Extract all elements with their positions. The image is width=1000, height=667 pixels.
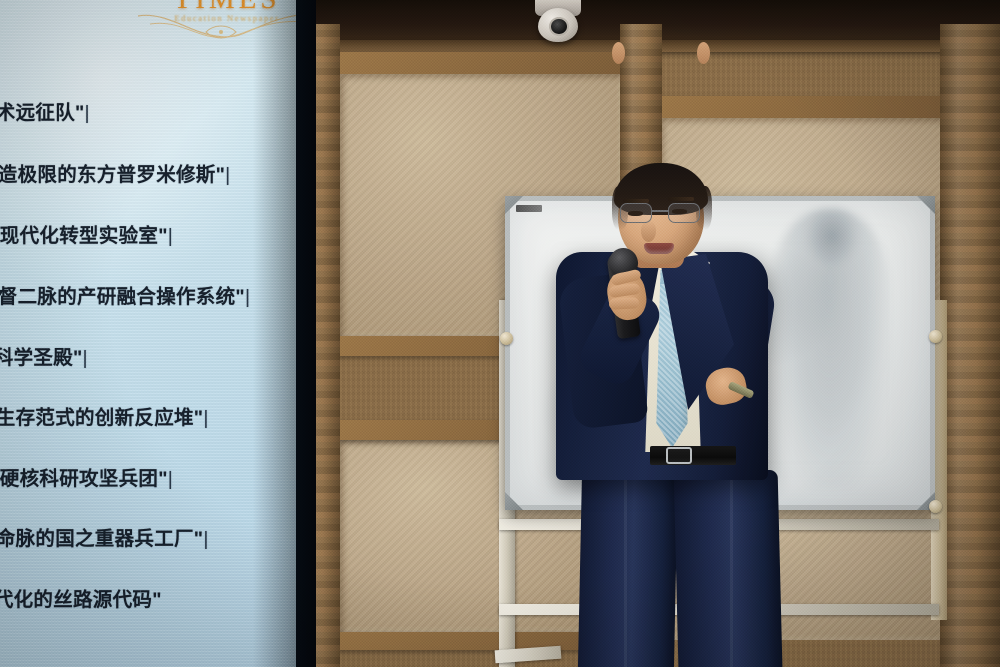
speaker-ear-left: [612, 42, 625, 64]
speaker-mouth: [644, 243, 674, 254]
speaker-leg-right: [674, 470, 783, 667]
speaker-legs: [580, 470, 780, 667]
finger: [609, 297, 640, 310]
slide-text-block: 学术远征队"| 制造极限的东方普罗米修斯"| 的现代化转型实验室"| 任督二脉的…: [0, 96, 296, 612]
whiteboard-brand-label: [516, 205, 542, 212]
belt: [650, 446, 736, 465]
whiteboard-pivot-knob-left[interactable]: [500, 332, 513, 345]
speaker-eyebrow-right: [668, 197, 694, 201]
whiteboard-pivot-knob-top[interactable]: [929, 330, 942, 343]
slide-line: 任督二脉的产研融合操作系统"|: [0, 280, 296, 309]
eyeglass-bridge: [652, 210, 668, 212]
speaker-ear-right: [697, 42, 710, 64]
slide-line: 学术远征队"|: [0, 96, 296, 125]
belt-buckle: [666, 447, 692, 464]
speaker-leg-left: [578, 470, 678, 667]
slide-line: 现代化的丝路源代码": [0, 583, 296, 612]
presentation-photo-scene: ▮▮▮ ▮▮ ▮▮▮▮: [0, 0, 1000, 667]
whiteboard-pivot-knob-bottom[interactable]: [929, 500, 942, 513]
trouser-crease: [624, 470, 627, 667]
speaker-eye-right: [672, 209, 687, 214]
slide-line: 础科学圣殿"|: [0, 341, 296, 370]
slide-line: 制造极限的东方普罗米修斯"|: [0, 158, 296, 187]
slide-line: 的硬核科研攻坚兵团"|: [0, 462, 296, 491]
speaker-eye-left: [628, 211, 643, 216]
wall-rail-top-right: [650, 96, 950, 118]
whiteboard-shadow-head: [805, 205, 859, 267]
camera-lens-icon: [549, 17, 569, 36]
slide-line: 来生存范式的创新反应堆"|: [0, 401, 296, 430]
slide-logo: TIMES Education Newspaper: [152, 0, 296, 46]
projection-screen: TIMES Education Newspaper 学术远征队"| 制造极限的东…: [0, 0, 296, 667]
trouser-crease: [730, 470, 733, 667]
wall-rail-top-left: [330, 52, 630, 74]
logo-flourish-ornament: [130, 10, 296, 44]
wall-wood-stile-right: [940, 24, 1000, 667]
slide-line: 天命脉的国之重器兵工厂"|: [0, 522, 296, 551]
slide-line: 的现代化转型实验室"|: [0, 219, 296, 248]
